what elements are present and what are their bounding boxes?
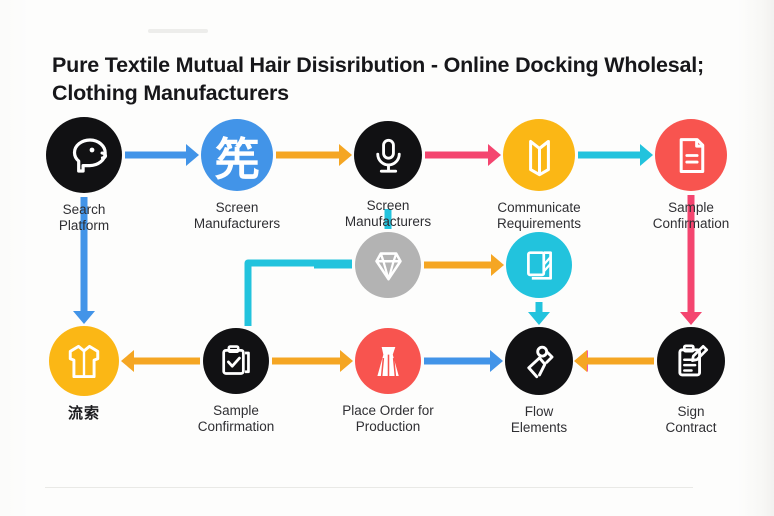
node-label-sample-confirmation-top: Sample Confirmation [616, 200, 766, 233]
connector-diamond-to-sampleconf [248, 263, 352, 326]
node-circle-search-platform [46, 117, 122, 193]
node-circle-fabric-swatch-node [506, 232, 572, 298]
connector-fabric-to-flowelements [528, 302, 550, 325]
node-circle-sample-confirmation-bot [203, 328, 269, 394]
connector-diamond-to-sampleconf-polyline [248, 263, 352, 326]
dress-icon [368, 341, 409, 382]
connector-fabric-to-flowelements-arrowhead [528, 312, 550, 325]
connector-sampleconf-to-flowsource [121, 350, 200, 372]
node-label-screen-manufacturers-2: Screen Manufacturers [313, 198, 463, 231]
fabric-sheet-icon [519, 245, 560, 286]
connector-screen2-to-communicate-arrowhead [488, 144, 501, 166]
connector-sign-to-fabric-arrowhead [574, 350, 587, 372]
connector-sample-to-sign-arrowhead [680, 312, 702, 325]
head-speech-icon [60, 131, 108, 179]
node-circle-diamond-node [355, 232, 421, 298]
clipboard-check-icon [216, 341, 257, 382]
node-label-screen-manufacturers-1: Screen Manufacturers [162, 200, 312, 233]
node-circle-sign-contract [657, 327, 725, 395]
connector-sampleconf-to-placeorder-arrowhead [340, 350, 353, 372]
connector-screen1-to-screen2-arrowhead [339, 144, 352, 166]
document-icon [669, 133, 714, 178]
node-circle-communicate-requirements [503, 119, 575, 191]
person-activity-icon [518, 340, 561, 383]
connector-communicate-to-sample-arrowhead [640, 144, 653, 166]
connector-sampleconf-to-placeorder [272, 350, 353, 372]
node-circle-sample-confirmation-top [655, 119, 727, 191]
node-label-communicate-requirements: Communicate Requirements [464, 200, 614, 233]
connector-search-to-screen1-arrowhead [186, 144, 199, 166]
connector-placeorder-to-flowelements [424, 350, 503, 372]
connector-sign-to-fabric [574, 350, 654, 372]
diamond-icon [368, 245, 409, 286]
connector-diamond-right-stub-arrowhead [491, 254, 504, 276]
connector-search-to-flowsource-arrowhead [73, 311, 95, 324]
node-label-sign-contract: Sign Contract [616, 404, 766, 437]
connector-communicate-to-sample [578, 144, 653, 166]
connector-screen1-to-screen2 [276, 144, 352, 166]
microphone-icon [367, 134, 410, 177]
connector-search-to-screen1 [125, 144, 199, 166]
node-circle-flow-source [49, 326, 119, 396]
node-circle-flow-elements [505, 327, 573, 395]
clipboard-pen-icon [670, 340, 713, 383]
connector-sampleconf-to-flowsource-arrowhead [121, 350, 134, 372]
connector-screen2-to-communicate [425, 144, 501, 166]
node-label-sample-confirmation-bot: Sample Confirmation [161, 403, 311, 436]
node-label-flow-elements: Flow Elements [464, 404, 614, 437]
node-circle-screen-manufacturers-2 [354, 121, 422, 189]
node-label-flow-source: 流索 [9, 405, 159, 423]
open-book-icon [517, 133, 562, 178]
node-circle-screen-manufacturers-1: 筅 [201, 119, 273, 191]
jacket-icon [62, 339, 106, 383]
connector-placeorder-to-flowelements-arrowhead [490, 350, 503, 372]
node-label-search-platform: Search Platform [9, 202, 159, 235]
cjk-glyph-icon: 筅 [214, 123, 259, 188]
connector-diamond-right-stub [424, 254, 504, 276]
node-label-place-order: Place Order for Production [313, 403, 463, 436]
diagram-canvas: Pure Textile Mutual Hair Disisribution -… [0, 0, 774, 516]
node-circle-place-order [355, 328, 421, 394]
